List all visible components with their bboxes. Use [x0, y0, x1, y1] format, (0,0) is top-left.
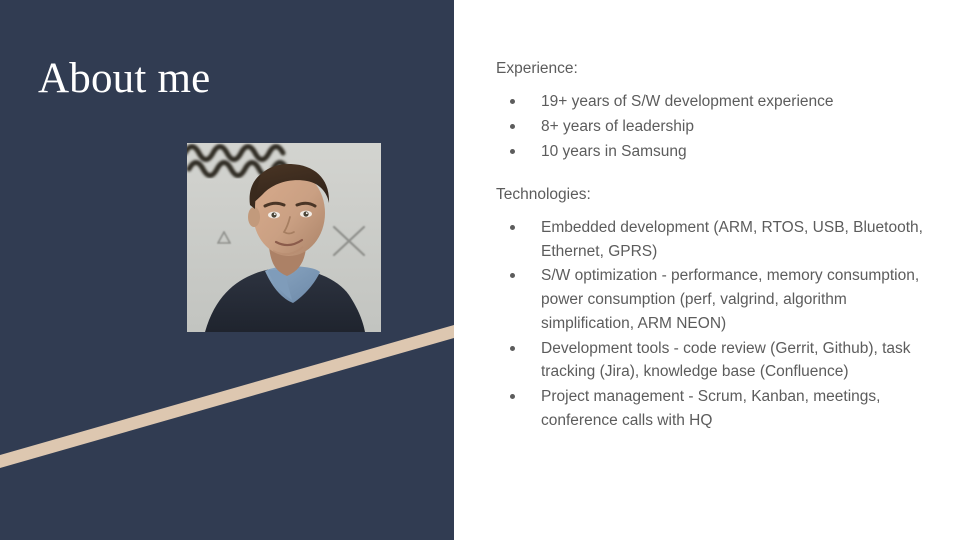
bullet-dot-icon [510, 149, 515, 154]
list-item: 8+ years of leadership [496, 115, 926, 139]
page-title: About me [38, 54, 210, 103]
bullet-dot-icon [510, 346, 515, 351]
slide: About me [0, 0, 960, 540]
list-item: 10 years in Samsung [496, 140, 926, 164]
list-item-label: 8+ years of leadership [541, 115, 926, 139]
list-item-label: Development tools - code review (Gerrit,… [541, 337, 926, 384]
list-item: Embedded development (ARM, RTOS, USB, Bl… [496, 216, 926, 263]
bullet-dot-icon [510, 273, 515, 278]
list-item: Development tools - code review (Gerrit,… [496, 337, 926, 384]
list-item-label: 19+ years of S/W development experience [541, 90, 926, 114]
bullet-dot-icon [510, 394, 515, 399]
list-item-label: 10 years in Samsung [541, 140, 926, 164]
list-item: Project management - Scrum, Kanban, meet… [496, 385, 926, 432]
content-column: Experience: 19+ years of S/W development… [496, 58, 926, 433]
technologies-heading: Technologies: [496, 184, 926, 206]
bullet-dot-icon [510, 124, 515, 129]
portrait-photo-image [187, 143, 381, 332]
list-item: 19+ years of S/W development experience [496, 90, 926, 114]
list-item-label: Project management - Scrum, Kanban, meet… [541, 385, 926, 432]
portrait-photo [187, 143, 381, 332]
left-dark-panel: About me [0, 0, 454, 540]
bullet-dot-icon [510, 99, 515, 104]
technologies-list: Embedded development (ARM, RTOS, USB, Bl… [496, 216, 926, 432]
experience-list: 19+ years of S/W development experience … [496, 90, 926, 163]
experience-heading: Experience: [496, 58, 926, 80]
list-item-label: S/W optimization - performance, memory c… [541, 264, 926, 335]
list-item-label: Embedded development (ARM, RTOS, USB, Bl… [541, 216, 926, 263]
bullet-dot-icon [510, 225, 515, 230]
list-item: S/W optimization - performance, memory c… [496, 264, 926, 335]
